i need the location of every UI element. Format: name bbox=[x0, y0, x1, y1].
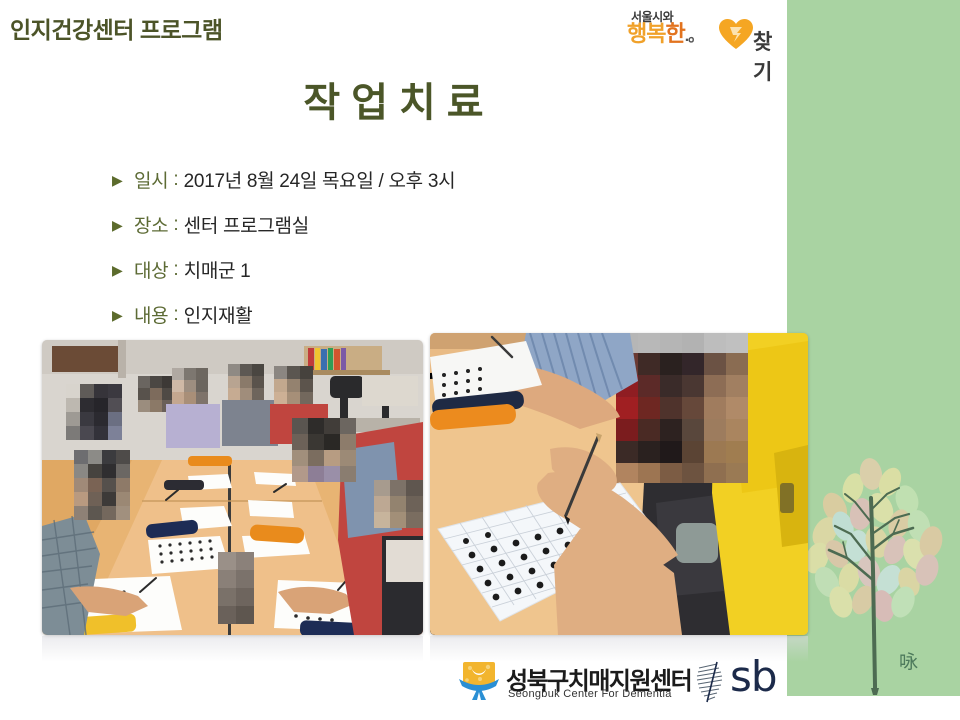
triangle-bullet-icon: ▶ bbox=[112, 263, 134, 277]
detail-label: 일시 bbox=[134, 166, 168, 193]
logo-line-happy: 행복한.。 bbox=[627, 23, 703, 45]
program-header-title: 인지건강센터 프로그램 bbox=[10, 11, 223, 45]
heart-icon bbox=[718, 18, 754, 50]
center-name-english: Seongbuk Center For Dementia bbox=[508, 688, 672, 700]
pixelated-face bbox=[218, 552, 254, 624]
triangle-bullet-icon: ▶ bbox=[112, 218, 134, 232]
detail-separator: : bbox=[168, 214, 183, 236]
seongbuk-center-logo: 성북구치매지원센터 Seongbuk Center For Dementia s… bbox=[458, 658, 768, 708]
logo-happy-b: 한 bbox=[665, 21, 684, 46]
detail-value: 치매군 1 bbox=[184, 256, 251, 283]
detail-value: 센터 프로그램실 bbox=[184, 211, 309, 238]
logo-happy-dots: .。 bbox=[685, 28, 703, 45]
detail-row-target: ▶ 대상 : 치매군 1 bbox=[112, 247, 732, 292]
detail-label: 대상 bbox=[134, 256, 168, 283]
detail-separator: : bbox=[168, 169, 183, 191]
tree-signature: 咏 bbox=[899, 651, 918, 673]
center-mark-icon bbox=[458, 661, 500, 701]
pixelated-face bbox=[374, 480, 423, 528]
feather-icon bbox=[695, 660, 729, 704]
pixelated-face bbox=[616, 333, 748, 483]
pixelated-face bbox=[74, 450, 130, 520]
watercolor-tree: 咏 bbox=[795, 430, 955, 695]
detail-separator: : bbox=[168, 259, 183, 281]
detail-label: 장소 bbox=[134, 211, 168, 238]
detail-separator: : bbox=[168, 304, 183, 326]
seoul-happiness-logo: 서울시와 행복한.。 찾기 bbox=[625, 6, 785, 58]
pixelated-face bbox=[66, 384, 122, 440]
pixelated-face bbox=[172, 368, 208, 404]
pixelated-face bbox=[274, 366, 313, 405]
detail-row-content: ▶ 내용 : 인지재활 bbox=[112, 292, 732, 337]
detail-list: ▶ 일시 : 2017년 8월 24일 목요일 / 오후 3시 ▶ 장소 : 센… bbox=[112, 157, 732, 337]
detail-row-place: ▶ 장소 : 센터 프로그램실 bbox=[112, 202, 732, 247]
detail-label: 내용 bbox=[134, 301, 168, 328]
detail-value: 2017년 8월 24일 목요일 / 오후 3시 bbox=[184, 166, 456, 193]
photo-reflection-left bbox=[42, 636, 423, 662]
photo-group-table bbox=[42, 340, 423, 635]
photo-closeup-worksheet bbox=[430, 333, 808, 635]
pixelated-face bbox=[228, 364, 264, 400]
detail-value: 인지재활 bbox=[184, 301, 253, 328]
triangle-bullet-icon: ▶ bbox=[112, 308, 134, 322]
triangle-bullet-icon: ▶ bbox=[112, 173, 134, 187]
slide-canvas: 咏 인지건강센터 프로그램 서울시와 행복한.。 찾기 작업치료 ▶ 일시 : … bbox=[0, 0, 960, 720]
page-title: 작업치료 bbox=[0, 70, 787, 128]
pixelated-face bbox=[292, 418, 356, 482]
logo-happy-a: 행복 bbox=[627, 21, 665, 46]
sb-wordmark: sb bbox=[730, 656, 777, 698]
detail-row-datetime: ▶ 일시 : 2017년 8월 24일 목요일 / 오후 3시 bbox=[112, 157, 732, 202]
